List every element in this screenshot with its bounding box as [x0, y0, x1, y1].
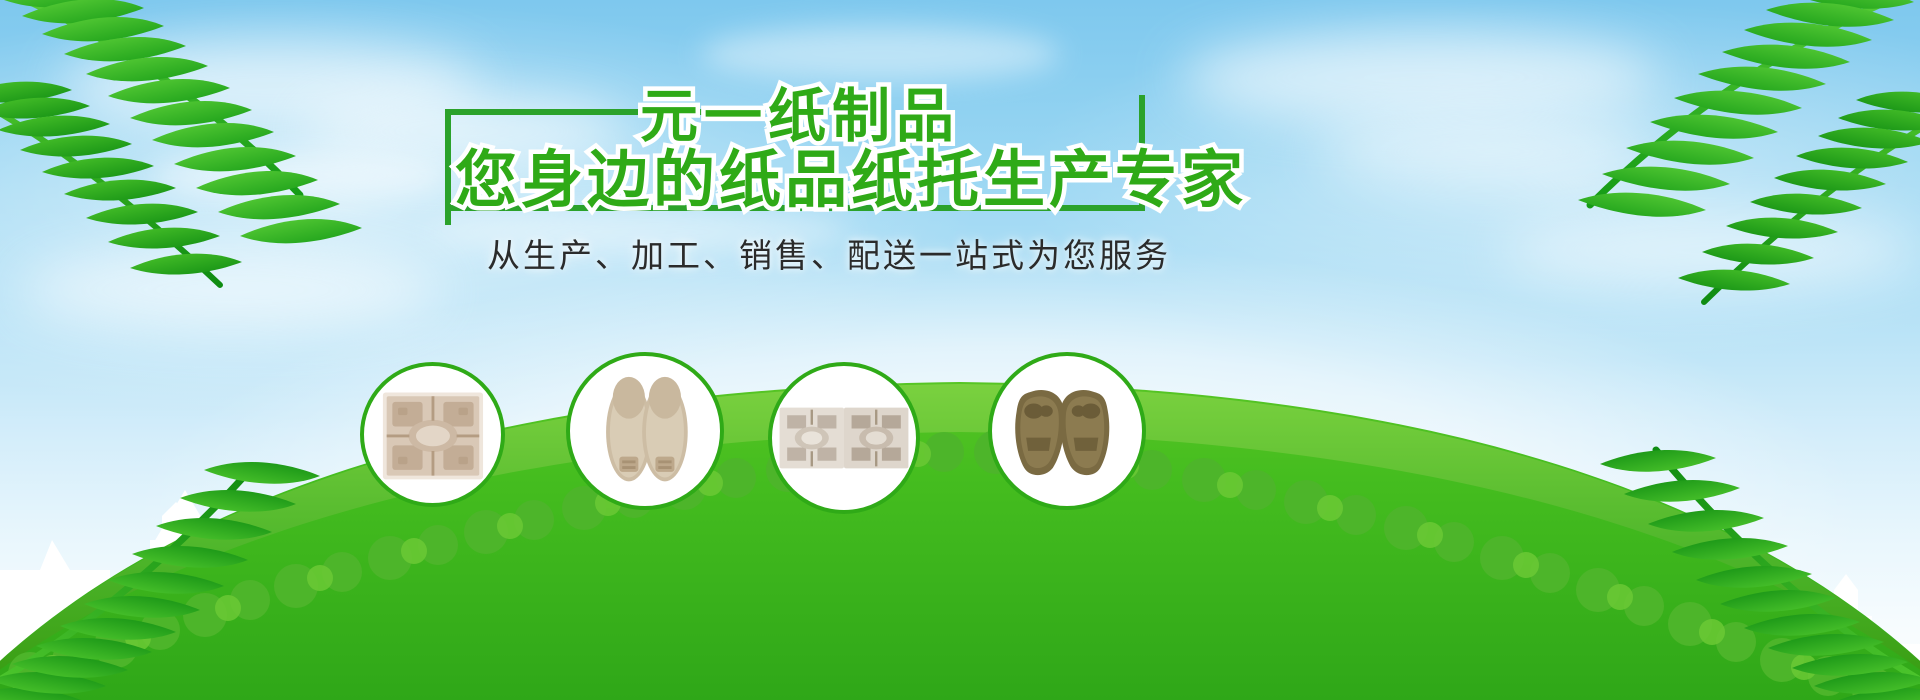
product-circle-3[interactable] — [768, 362, 920, 514]
headline-line-1: 元一纸制品 — [640, 84, 960, 148]
paper-pulp-dark-shoe-image — [992, 352, 1142, 510]
product-circle-4[interactable] — [988, 352, 1146, 510]
paper-pulp-square-tray-image — [364, 362, 501, 507]
banner-subtitle: 从生产、加工、销售、配送一站式为您服务 — [487, 236, 1171, 276]
product-circle-2[interactable] — [566, 352, 724, 510]
product-circle-1[interactable] — [360, 362, 505, 507]
palm-frond-bottom-left — [0, 400, 320, 700]
headline-line-2: 您身边的纸品纸托生产专家 — [455, 145, 1247, 215]
promo-banner: 元一纸制品 您身边的纸品纸托生产专家 从生产、加工、销售、配送一站式为您服务 — [0, 0, 1920, 700]
paper-pulp-shoe-insert-image — [570, 352, 720, 510]
palm-frond-bottom-right — [1560, 380, 1920, 700]
headline-block: 元一纸制品 您身边的纸品纸托生产专家 从生产、加工、销售、配送一站式为您服务 — [0, 0, 1920, 340]
paper-pulp-double-tray-image — [772, 362, 916, 514]
